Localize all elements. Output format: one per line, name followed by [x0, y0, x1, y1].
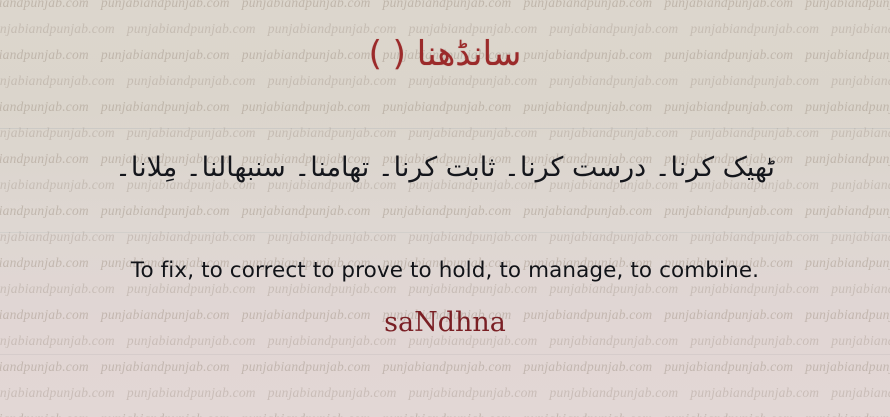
transliteration-roman: saNdhna	[0, 305, 890, 341]
headword-urdu: سانڈھنا ( )	[0, 30, 890, 79]
definition-english: To fix, to correct to prove to hold, to …	[0, 256, 890, 285]
definition-urdu: ٹھیک کرنا۔ درست کرنا۔ ثابت کرنا۔ تھامنا۔…	[0, 148, 890, 189]
dictionary-entry-page: punjabiandpunjab.compunjabiandpunjab.com…	[0, 0, 890, 417]
